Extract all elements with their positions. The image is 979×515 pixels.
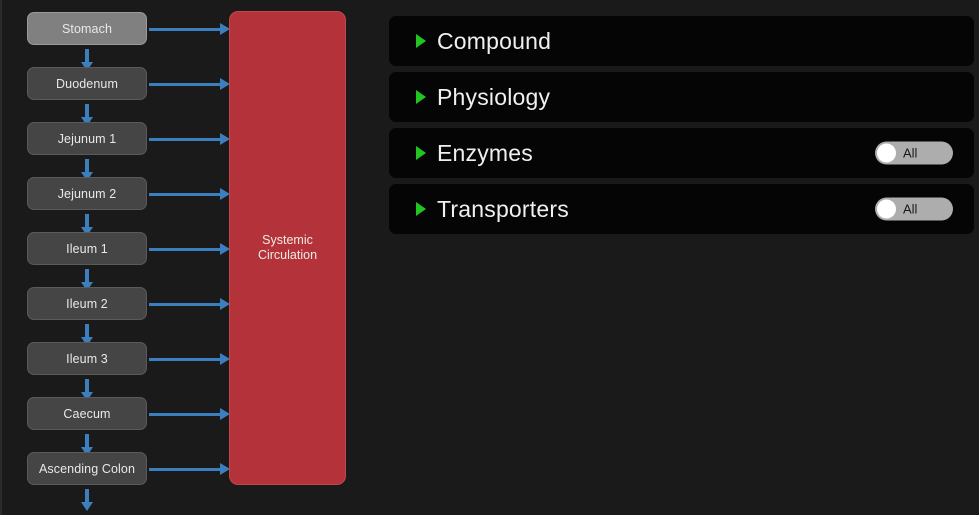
gi-node-jejunum-2[interactable]: Jejunum 2 <box>27 177 147 210</box>
gi-node-ileum-3[interactable]: Ileum 3 <box>27 342 147 375</box>
parameter-accordion: CompoundPhysiologyEnzymesAllTransporters… <box>389 16 974 240</box>
accordion-section-label: Physiology <box>437 84 550 111</box>
flow-down-arrow <box>85 214 89 228</box>
all-toggle-switch[interactable]: All <box>875 198 953 221</box>
gi-node-stomach[interactable]: Stomach <box>27 12 147 45</box>
accordion-section-label: Compound <box>437 28 551 55</box>
toggle-knob[interactable] <box>877 200 896 219</box>
caret-right-icon[interactable] <box>416 34 426 48</box>
flow-down-arrow <box>85 324 89 338</box>
flow-down-arrow <box>85 489 89 503</box>
absorption-arrow <box>149 358 221 361</box>
flow-down-arrow <box>85 434 89 448</box>
gi-node-label: Stomach <box>62 22 112 36</box>
toggle-label: All <box>903 202 917 217</box>
all-toggle-switch[interactable]: All <box>875 142 953 165</box>
flow-down-arrow <box>85 159 89 173</box>
caret-right-icon[interactable] <box>416 146 426 160</box>
gi-node-duodenum[interactable]: Duodenum <box>27 67 147 100</box>
absorption-arrow <box>149 83 221 86</box>
absorption-arrow <box>149 28 221 31</box>
accordion-section-transporters[interactable]: TransportersAll <box>389 184 974 234</box>
systemic-label-line-1: Systemic <box>258 233 317 248</box>
gi-node-ileum-2[interactable]: Ileum 2 <box>27 287 147 320</box>
gi-node-label: Caecum <box>63 407 110 421</box>
flow-down-arrow <box>85 49 89 63</box>
flow-down-arrow <box>85 269 89 283</box>
flow-down-arrow <box>85 379 89 393</box>
gi-node-label: Ileum 1 <box>66 242 108 256</box>
accordion-section-physiology[interactable]: Physiology <box>389 72 974 122</box>
gi-node-label: Ileum 2 <box>66 297 108 311</box>
accordion-section-enzymes[interactable]: EnzymesAll <box>389 128 974 178</box>
gi-tract-flow-diagram: StomachDuodenumJejunum 1Jejunum 2Ileum 1… <box>2 0 372 515</box>
accordion-section-compound[interactable]: Compound <box>389 16 974 66</box>
absorption-arrow <box>149 138 221 141</box>
accordion-section-label: Enzymes <box>437 140 533 167</box>
gi-node-ascending-colon[interactable]: Ascending Colon <box>27 452 147 485</box>
gi-node-ileum-1[interactable]: Ileum 1 <box>27 232 147 265</box>
absorption-arrow <box>149 303 221 306</box>
gi-node-jejunum-1[interactable]: Jejunum 1 <box>27 122 147 155</box>
gi-node-label: Ascending Colon <box>39 462 135 476</box>
absorption-arrow <box>149 413 221 416</box>
gi-node-caecum[interactable]: Caecum <box>27 397 147 430</box>
absorption-arrow <box>149 248 221 251</box>
absorption-arrow <box>149 193 221 196</box>
caret-right-icon[interactable] <box>416 202 426 216</box>
gi-node-label: Ileum 3 <box>66 352 108 366</box>
gi-node-label: Jejunum 2 <box>58 187 117 201</box>
application-window: StomachDuodenumJejunum 1Jejunum 2Ileum 1… <box>0 0 979 515</box>
gi-node-label: Jejunum 1 <box>58 132 117 146</box>
absorption-arrow <box>149 468 221 471</box>
toggle-knob[interactable] <box>877 144 896 163</box>
systemic-circulation-label: Systemic Circulation <box>258 233 317 263</box>
flow-down-arrow <box>85 104 89 118</box>
systemic-circulation-node[interactable]: Systemic Circulation <box>229 11 346 485</box>
accordion-section-label: Transporters <box>437 196 569 223</box>
caret-right-icon[interactable] <box>416 90 426 104</box>
systemic-label-line-2: Circulation <box>258 248 317 263</box>
gi-node-label: Duodenum <box>56 77 118 91</box>
toggle-label: All <box>903 146 917 161</box>
